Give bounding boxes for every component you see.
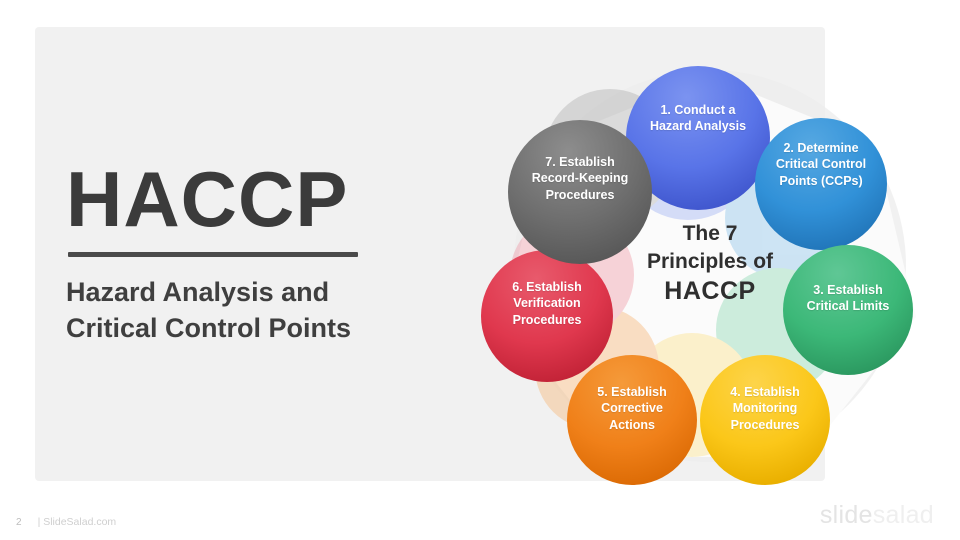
node-circle-6 (481, 250, 613, 382)
page-number: 2 (16, 517, 22, 528)
node-circle-3 (783, 245, 913, 375)
logo-text-salad: salad (873, 501, 934, 529)
subtitle-line-2: Critical Control Points (66, 313, 351, 343)
haccp-principles-diagram: The 7 Principles of HACCP 1. Conduct a H… (460, 20, 960, 490)
node-circle-7 (508, 120, 652, 264)
slide-canvas: HACCP Hazard Analysis and Critical Contr… (0, 0, 960, 540)
page-title: HACCP (66, 160, 486, 238)
footer: 2 | SlideSalad.com (16, 516, 116, 528)
node-circle-2 (755, 118, 887, 250)
diagram-shapes (460, 20, 960, 490)
node-circle-5 (567, 355, 697, 485)
footer-attribution: | SlideSalad.com (38, 516, 117, 528)
page-subtitle: Hazard Analysis and Critical Control Poi… (66, 275, 486, 347)
node-circle-4 (700, 355, 830, 485)
logo-text-slide: slide (820, 501, 873, 529)
slidesalad-logo: slidesalad (820, 501, 934, 530)
title-block: HACCP Hazard Analysis and Critical Contr… (66, 160, 486, 347)
title-underline-rule (68, 252, 358, 257)
subtitle-line-1: Hazard Analysis and (66, 277, 329, 307)
